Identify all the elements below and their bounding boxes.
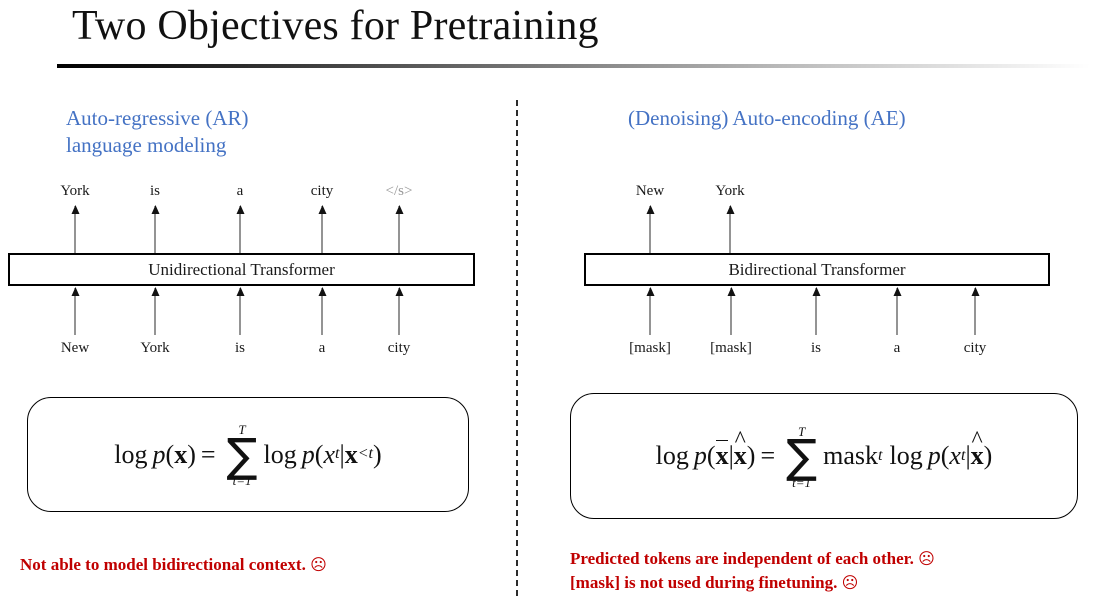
sad-face-icon: ☹: [842, 573, 859, 592]
right-output-arrow: [650, 206, 651, 253]
right-input-token: is: [811, 339, 821, 357]
page-title: Two Objectives for Pretraining: [72, 2, 599, 50]
left-output-token: is: [150, 182, 160, 200]
slide-canvas: Two Objectives for Pretraining Auto-regr…: [0, 0, 1100, 606]
right-input-arrow: [731, 288, 732, 335]
right-input-token: [mask]: [629, 339, 671, 357]
left-output-arrow: [240, 206, 241, 253]
ar-objective-formula-box: logp(x) = T ∑ t=1 logp(xt|x<t): [27, 397, 469, 512]
unidirectional-transformer-label: Unidirectional Transformer: [148, 260, 335, 280]
sad-face-icon: ☹: [310, 555, 327, 574]
left-caption-line: Not able to model bidirectional context.…: [20, 553, 327, 577]
left-output-token: a: [237, 182, 244, 200]
left-input-token: is: [235, 339, 245, 357]
column-divider: [516, 100, 518, 596]
left-output-arrow: [399, 206, 400, 253]
sigma-icon: ∑: [786, 438, 817, 476]
left-output-token-eos: </s>: [386, 182, 413, 200]
sum-lower-limit: t=1: [233, 474, 252, 488]
right-output-arrow: [730, 206, 731, 253]
ae-objective-formula: logp(x|x) = T ∑ t=1 maskt logp(xt|x): [656, 424, 993, 489]
sigma-icon: ∑: [227, 437, 258, 475]
right-caption-text-2: [mask] is not used during finetuning.: [570, 573, 837, 592]
right-caption-line-1: Predicted tokens are independent of each…: [570, 547, 935, 571]
sad-face-icon: ☹: [918, 549, 935, 568]
left-heading-line-2: language modeling: [66, 132, 249, 159]
left-input-arrow: [399, 288, 400, 335]
right-input-token: a: [894, 339, 901, 357]
left-output-arrow: [75, 206, 76, 253]
right-input-arrow: [650, 288, 651, 335]
right-column-heading: (Denoising) Auto-encoding (AE): [628, 105, 906, 132]
right-input-arrow: [975, 288, 976, 335]
left-input-token: city: [388, 339, 411, 357]
unidirectional-transformer-box: Unidirectional Transformer: [8, 253, 475, 286]
right-input-arrow: [897, 288, 898, 335]
title-underline-rule: [57, 64, 1090, 68]
right-caption-text-1: Predicted tokens are independent of each…: [570, 549, 914, 568]
sum-lower-limit: t=1: [792, 476, 811, 490]
left-input-token: New: [61, 339, 89, 357]
right-input-token: city: [964, 339, 987, 357]
bidirectional-transformer-label: Bidirectional Transformer: [728, 260, 905, 280]
left-input-arrow: [322, 288, 323, 335]
right-caption-line-2: [mask] is not used during finetuning. ☹: [570, 571, 858, 595]
right-output-token: York: [715, 182, 744, 200]
left-column-heading: Auto-regressive (AR) language modeling: [66, 105, 249, 159]
ae-objective-formula-box: logp(x|x) = T ∑ t=1 maskt logp(xt|x): [570, 393, 1078, 519]
left-input-arrow: [75, 288, 76, 335]
summation-symbol: T ∑ t=1: [786, 425, 817, 490]
left-output-arrow: [322, 206, 323, 253]
summation-symbol: T ∑ t=1: [227, 423, 258, 488]
right-output-token: New: [636, 182, 664, 200]
left-output-token: York: [60, 182, 89, 200]
left-output-arrow: [155, 206, 156, 253]
left-input-token: York: [140, 339, 169, 357]
left-heading-line-1: Auto-regressive (AR): [66, 105, 249, 132]
ar-objective-formula: logp(x) = T ∑ t=1 logp(xt|x<t): [114, 422, 381, 487]
left-input-token: a: [319, 339, 326, 357]
left-input-arrow: [155, 288, 156, 335]
right-input-arrow: [816, 288, 817, 335]
bidirectional-transformer-box: Bidirectional Transformer: [584, 253, 1050, 286]
left-input-arrow: [240, 288, 241, 335]
left-caption-text: Not able to model bidirectional context.: [20, 555, 306, 574]
right-heading-line-1: (Denoising) Auto-encoding (AE): [628, 105, 906, 132]
right-input-token: [mask]: [710, 339, 752, 357]
left-output-token: city: [311, 182, 334, 200]
